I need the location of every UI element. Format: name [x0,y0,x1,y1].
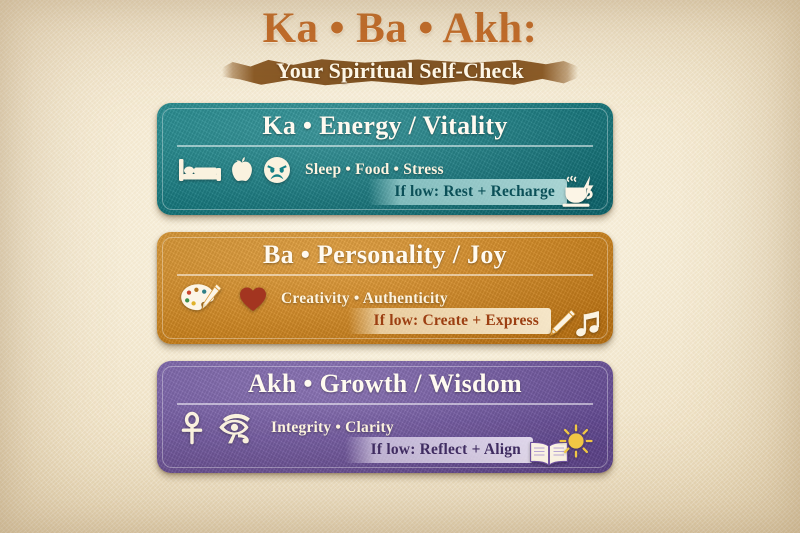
heart-icon [239,286,267,312]
stressed-face-icon [263,156,291,184]
advice-icons-ka [565,174,605,210]
sun-icon [559,424,593,458]
advice-row-akh: If low: Reflect + Align [345,435,605,465]
eye-of-horus-icon [215,412,257,444]
advice-text-ba: If low: Create + Express [348,308,551,334]
subtitle-banner: Your Spiritual Self-Check [228,54,572,90]
card-heading-ka: Ka • Energy / Vitality [175,109,595,143]
card-ka[interactable]: Ka • Energy / Vitality [157,103,613,215]
bed-icon [179,157,221,183]
card-ba[interactable]: Ba • Personality / Joy [157,232,613,344]
page-subtitle: Your Spiritual Self-Check [276,58,524,84]
pencil-icon [547,308,577,338]
card-divider-ka [177,145,593,147]
card-divider-ba [177,274,593,276]
artist-palette-icon [179,282,225,316]
music-note-icon [576,311,602,339]
poster-canvas: Ka • Ba • Akh: Your Spiritual Self-Check… [0,0,800,533]
card-divider-akh [177,403,593,405]
card-akh[interactable]: Akh • Growth / Wisdom [157,361,613,473]
advice-icons-akh [531,433,605,467]
card-heading-akh: Akh • Growth / Wisdom [175,367,595,401]
advice-icons-ba [549,306,605,336]
card-heading-ba: Ba • Personality / Joy [175,238,595,272]
advice-row-ba: If low: Create + Express [348,306,605,336]
coffee-cup-icon [561,174,601,210]
ankh-icon [179,412,205,444]
advice-text-ka: If low: Rest + Recharge [368,179,567,205]
advice-text-akh: If low: Reflect + Align [345,437,533,463]
advice-row-ka: If low: Rest + Recharge [368,177,605,207]
page-title: Ka • Ba • Akh: [0,6,800,51]
poster-header: Ka • Ba • Akh: Your Spiritual Self-Check [0,6,800,90]
apple-icon [229,156,255,184]
